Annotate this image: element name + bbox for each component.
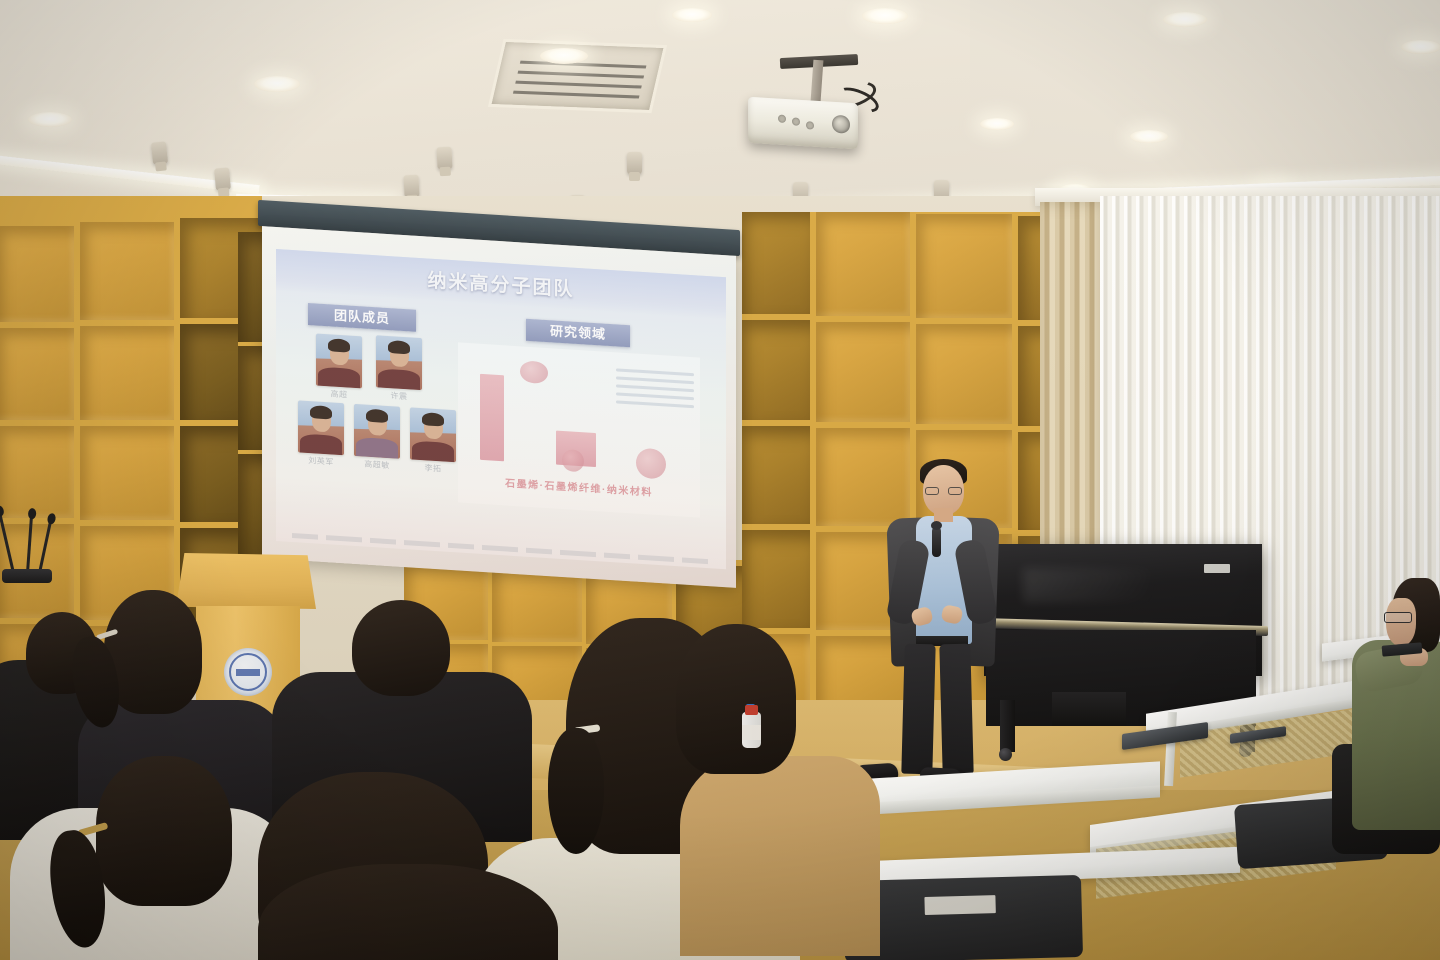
university-crest-icon <box>224 648 272 696</box>
slide-research-caption: 石墨烯·石墨烯纤维·纳米材料 <box>458 471 700 501</box>
presenter-neck <box>934 508 953 522</box>
audience-ponytail <box>548 728 604 854</box>
projection-screen: 纳米高分子团队 团队成员 研究领域 高超 许震 刘英军 <box>258 200 740 590</box>
audience-shoulders <box>680 756 880 956</box>
ceiling-downlight <box>540 48 588 64</box>
audience-head <box>96 756 232 906</box>
ceiling-downlight <box>672 8 712 22</box>
lecture-hall-photo: 纳米高分子团队 团队成员 研究领域 高超 许震 刘英军 <box>0 0 1440 960</box>
team-member-portrait <box>316 333 362 388</box>
audience-head <box>352 600 450 696</box>
track-light-icon <box>214 167 231 190</box>
team-member-name: 高超 <box>311 387 367 402</box>
slide-footnote <box>292 533 710 564</box>
team-member-name: 刘英军 <box>293 454 349 469</box>
track-light-icon <box>436 147 452 170</box>
ceiling-downlight <box>980 118 1014 130</box>
graphic-blob <box>636 448 666 480</box>
piano-caster <box>999 748 1012 761</box>
gooseneck-microphone-icon <box>38 520 52 573</box>
team-member-portrait <box>376 335 422 390</box>
slide-research-graphic: 石墨烯·石墨烯纤维·纳米材料 <box>458 342 700 517</box>
track-light-icon <box>403 175 419 198</box>
team-member-name: 高超敏 <box>349 458 405 473</box>
handheld-microphone-icon <box>932 527 941 557</box>
graphic-blob <box>562 449 584 472</box>
presenter-trouser-right <box>939 644 973 775</box>
presentation-slide: 纳米高分子团队 团队成员 研究领域 高超 许震 刘英军 <box>276 249 726 569</box>
piano-leg <box>1000 700 1015 752</box>
glasses-icon <box>1384 612 1412 623</box>
gooseneck-microphone-icon <box>0 512 15 573</box>
team-member-portrait <box>410 407 456 462</box>
track-light-icon <box>627 152 642 174</box>
ceiling-downlight <box>254 76 300 92</box>
ceiling-downlight <box>1401 40 1440 54</box>
bottle-red-cap-icon <box>745 705 758 715</box>
presenter-trouser-left <box>901 644 935 775</box>
ceiling-downlight <box>28 112 72 127</box>
microphone-cluster <box>0 505 58 583</box>
graphic-text-lines <box>616 368 694 413</box>
slide-section-header-members: 团队成员 <box>308 303 416 332</box>
graphic-bar <box>480 374 504 462</box>
glasses-icon <box>925 487 962 495</box>
microphone-base <box>2 569 52 583</box>
piano-pedal-box <box>1052 692 1126 726</box>
chair-label-tag <box>924 895 996 915</box>
ceiling-downlight <box>862 8 908 24</box>
lectern-top <box>176 553 316 609</box>
team-member-portrait <box>298 400 344 455</box>
track-light-icon <box>151 141 168 164</box>
ceiling-downlight <box>1130 130 1168 143</box>
team-member-name: 李拓 <box>405 461 461 476</box>
projector-lens-icon <box>832 115 850 134</box>
slide-section-header-research: 研究领域 <box>526 319 630 348</box>
audience-head <box>676 624 796 774</box>
piano-badge <box>1204 564 1230 573</box>
projector-icon <box>748 97 858 150</box>
graphic-blob <box>520 360 548 384</box>
ceiling-downlight <box>1163 12 1207 27</box>
screen-surface: 纳米高分子团队 团队成员 研究领域 高超 许震 刘英军 <box>262 226 736 588</box>
gooseneck-microphone-icon <box>26 515 33 573</box>
team-member-portrait <box>354 404 400 459</box>
team-member-name: 许震 <box>371 389 427 404</box>
red-cap-water-bottle[interactable] <box>742 712 761 748</box>
